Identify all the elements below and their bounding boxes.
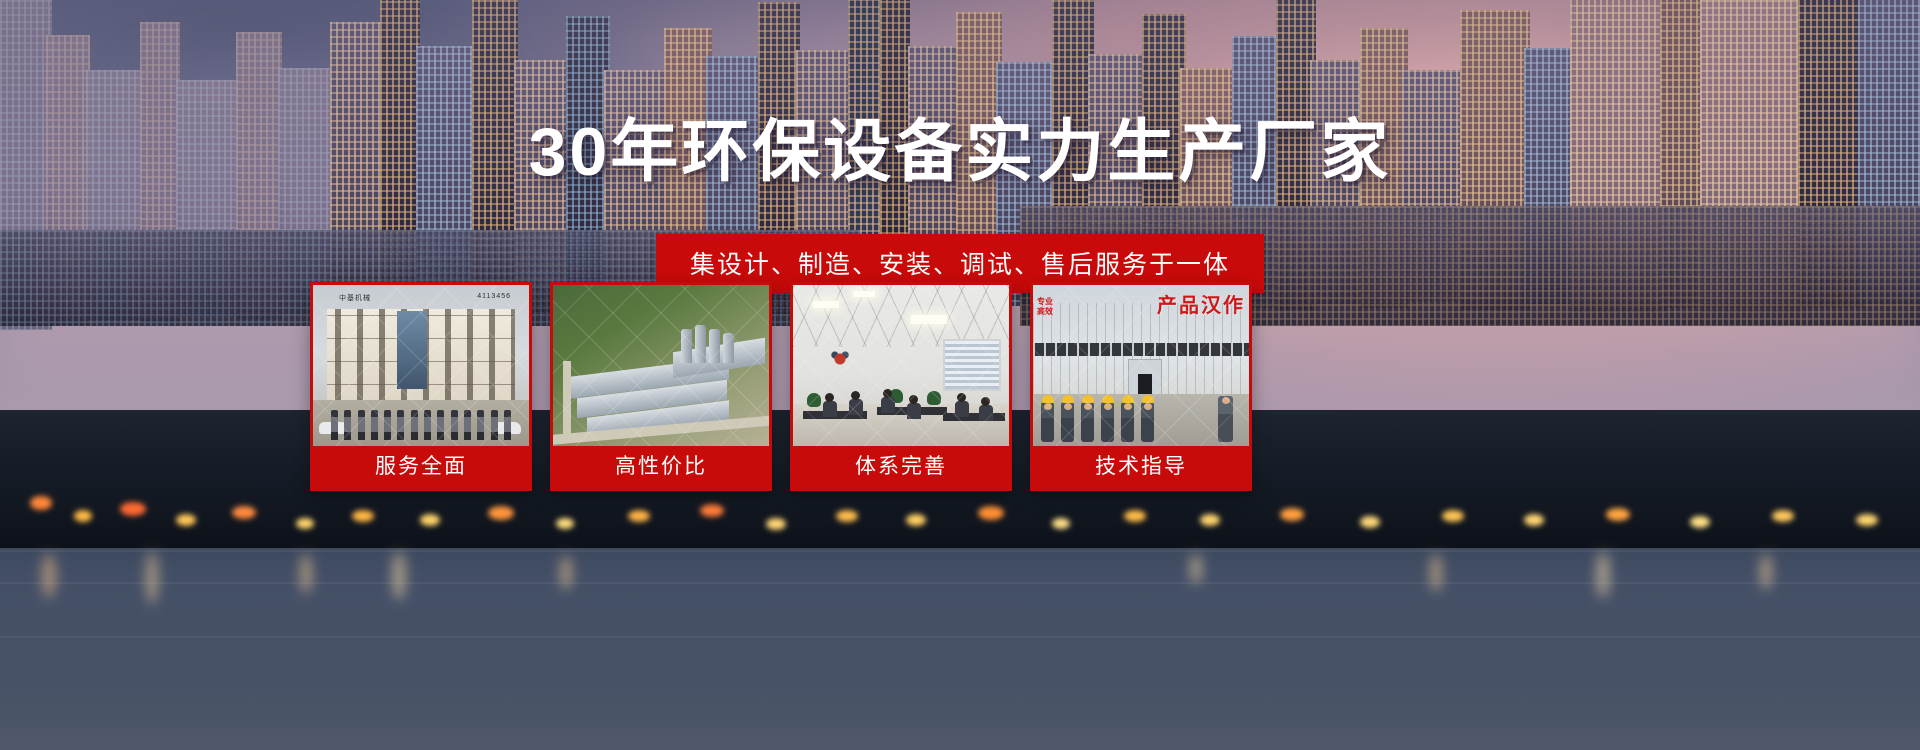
card-4-caption: 技术指导 bbox=[1033, 446, 1249, 488]
card-2-caption: 高性价比 bbox=[553, 446, 769, 488]
feature-card-1[interactable]: 中基机械 4113456 服务全面 bbox=[310, 282, 532, 491]
card-4-wall-slogan: 专业 高效 bbox=[1037, 297, 1053, 317]
river-reflections bbox=[0, 548, 1920, 750]
feature-card-3[interactable]: 体系完善 bbox=[790, 282, 1012, 491]
hero-banner: 30年环保设备实力生产厂家 集设计、制造、安装、调试、售后服务于一体 中基机械 … bbox=[0, 0, 1920, 750]
card-4-wall-sign: 产品汉作 bbox=[1157, 289, 1245, 318]
card-4-foreman bbox=[1218, 396, 1233, 442]
card-3-caption: 体系完善 bbox=[793, 446, 1009, 488]
feature-card-4[interactable]: 产品汉作 专业 高效 技术指导 bbox=[1030, 282, 1252, 491]
page-title: 30年环保设备实力生产厂家 bbox=[0, 96, 1920, 195]
card-1-staff-row bbox=[331, 410, 511, 442]
card-4-photo: 产品汉作 专业 高效 bbox=[1033, 285, 1249, 446]
wall-decal bbox=[827, 347, 853, 367]
card-1-phone: 4113456 bbox=[477, 293, 511, 300]
card-1-photo: 中基机械 4113456 bbox=[313, 285, 529, 446]
feature-card-2[interactable]: 高性价比 bbox=[550, 282, 772, 491]
river bbox=[0, 548, 1920, 750]
card-2-photo bbox=[553, 285, 769, 446]
card-3-photo bbox=[793, 285, 1009, 446]
feature-card-list: 中基机械 4113456 服务全面 bbox=[310, 282, 1252, 491]
card-1-caption: 服务全面 bbox=[313, 446, 529, 488]
card-1-company-sign: 中基机械 bbox=[339, 293, 371, 303]
